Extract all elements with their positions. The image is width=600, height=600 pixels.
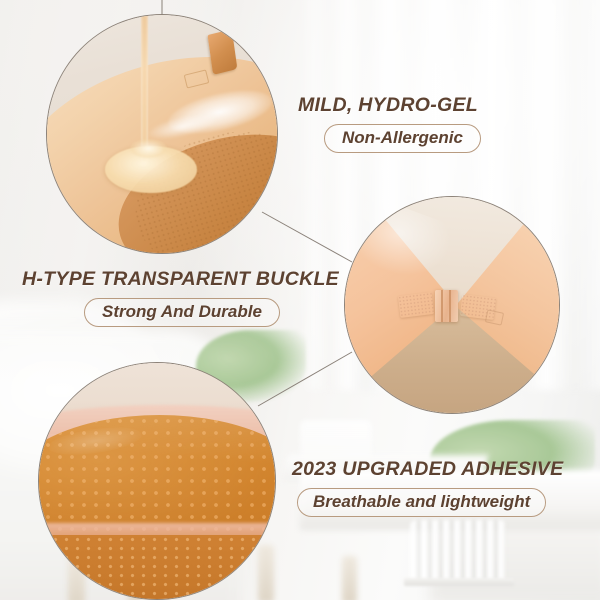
feature-headline-hydrogel: MILD, HYDRO-GEL [298, 94, 481, 117]
feature-badge-buckle: Strong And Durable [84, 298, 280, 327]
hydro-gel-pour-photo [46, 14, 278, 254]
clasp-bar [449, 290, 450, 322]
gel-splash [130, 139, 167, 158]
feature-badge-hydrogel: Non-Allergenic [324, 124, 481, 153]
h-type-clasp [435, 290, 459, 322]
clasp-bar [441, 290, 442, 322]
feature-badge-adhesive: Breathable and lightweight [297, 488, 546, 517]
feature-text-hydrogel: MILD, HYDRO-GEL Non-Allergenic [298, 94, 481, 153]
feature-headline-adhesive: 2023 UPGRADED ADHESIVE [292, 458, 563, 481]
feature-text-buckle: H-TYPE TRANSPARENT BUCKLE Strong And Dur… [22, 268, 339, 327]
infographic-canvas: MILD, HYDRO-GEL Non-Allergenic H-TYPE TR… [0, 0, 600, 600]
feature-text-adhesive: 2023 UPGRADED ADHESIVE Breathable and li… [292, 458, 563, 517]
adhesive-lower-dot-texture [39, 535, 276, 600]
upgraded-adhesive-photo [38, 362, 276, 600]
feature-headline-buckle: H-TYPE TRANSPARENT BUCKLE [22, 268, 339, 291]
buckle-strap-left [397, 292, 434, 318]
h-type-buckle-photo [344, 196, 560, 414]
